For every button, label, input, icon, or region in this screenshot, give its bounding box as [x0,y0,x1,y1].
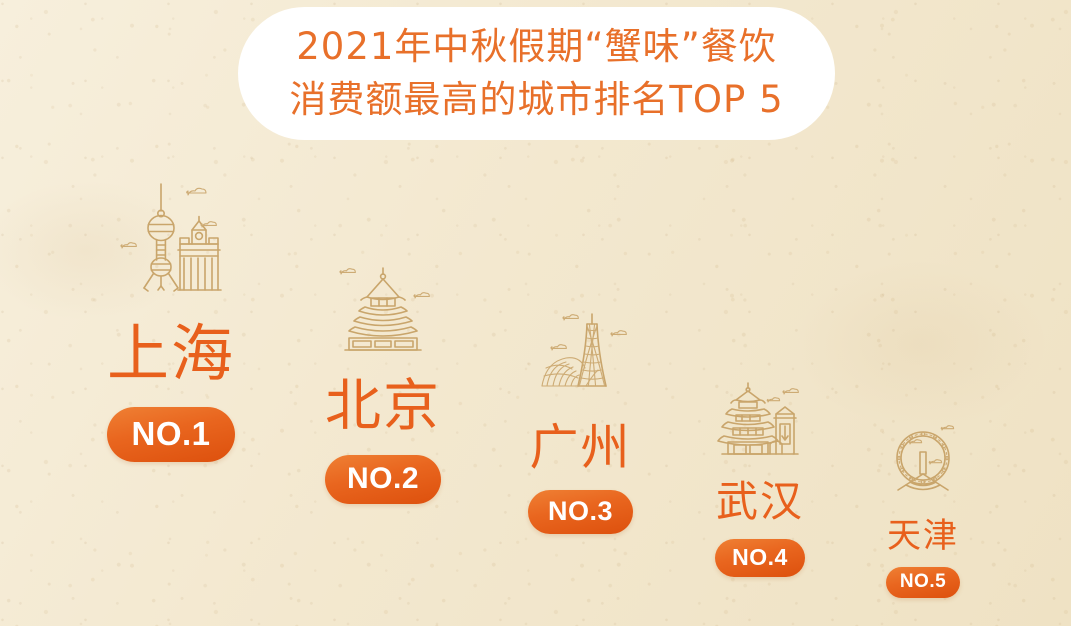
title-line-1: 2021年中秋假期“蟹味”餐饮 [296,21,777,74]
city-rank-4[interactable]: 武汉 NO.4 [712,378,808,577]
oriental-pearl-tower-icon [112,178,230,301]
rank-badge[interactable]: NO.3 [528,490,633,534]
city-rank-2[interactable]: 北京 NO.2 [325,260,441,504]
city-rank-5[interactable]: 天津 NO.5 [882,424,964,598]
title-line-2: 消费额最高的城市排名TOP 5 [289,74,783,127]
city-name: 天津 [887,519,959,553]
rank-badge[interactable]: NO.5 [886,567,960,598]
rank-badge[interactable]: NO.1 [107,407,234,462]
canton-tower-icon [530,310,632,407]
tianjin-eye-ferris-wheel-icon [882,424,964,507]
infographic-canvas: 2021年中秋假期“蟹味”餐饮 消费额最高的城市排名TOP 5 [0,0,1071,626]
yellow-crane-tower-icon [712,378,808,467]
city-name: 北京 [325,379,441,435]
city-rank-3[interactable]: 广州 NO.3 [528,310,633,534]
rank-badge[interactable]: NO.2 [325,455,441,504]
city-name: 广州 [530,423,632,472]
rank-badge[interactable]: NO.4 [715,539,805,577]
city-rank-1[interactable]: 上海 NO.1 [107,178,235,462]
title-card: 2021年中秋假期“蟹味”餐饮 消费额最高的城市排名TOP 5 [238,7,835,140]
temple-of-heaven-icon [327,260,439,361]
city-name: 上海 [107,323,235,385]
city-name: 武汉 [716,481,804,523]
